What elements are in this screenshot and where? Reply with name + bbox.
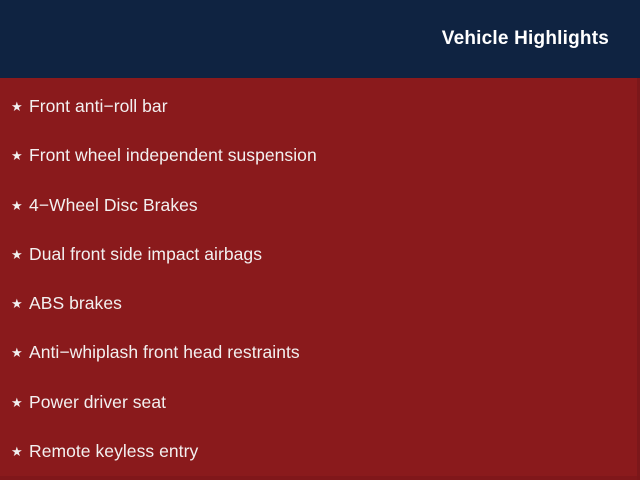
star-bullet-icon: ★ [11, 149, 29, 162]
highlights-body: ★ Front anti−roll bar ★ Front wheel inde… [0, 78, 640, 480]
vehicle-highlights-slide: Vehicle Highlights ★ Front anti−roll bar… [0, 0, 640, 480]
star-bullet-icon: ★ [11, 199, 29, 212]
list-item-label: ABS brakes [29, 291, 122, 315]
list-item-label: Front wheel independent suspension [29, 143, 317, 167]
star-bullet-icon: ★ [11, 248, 29, 261]
star-bullet-icon: ★ [11, 396, 29, 409]
header-band: Vehicle Highlights [0, 0, 640, 78]
star-bullet-icon: ★ [11, 445, 29, 458]
star-bullet-icon: ★ [11, 346, 29, 359]
list-item-label: Power driver seat [29, 390, 166, 414]
page-title: Vehicle Highlights [442, 0, 609, 78]
list-item: ★ Remote keyless entry [11, 439, 198, 463]
list-item: ★ Front wheel independent suspension [11, 143, 317, 167]
list-item-label: Dual front side impact airbags [29, 242, 262, 266]
star-bullet-icon: ★ [11, 297, 29, 310]
list-item-label: Front anti−roll bar [29, 94, 168, 118]
list-item-label: Anti−whiplash front head restraints [29, 340, 300, 364]
list-item: ★ Front anti−roll bar [11, 94, 168, 118]
list-item-label: Remote keyless entry [29, 439, 198, 463]
list-item: ★ ABS brakes [11, 291, 122, 315]
list-item: ★ Anti−whiplash front head restraints [11, 340, 300, 364]
star-bullet-icon: ★ [11, 100, 29, 113]
list-item: ★ 4−Wheel Disc Brakes [11, 193, 198, 217]
list-item-label: 4−Wheel Disc Brakes [29, 193, 198, 217]
bottom-edge-divider [0, 476, 640, 480]
list-item: ★ Power driver seat [11, 390, 166, 414]
list-item: ★ Dual front side impact airbags [11, 242, 262, 266]
